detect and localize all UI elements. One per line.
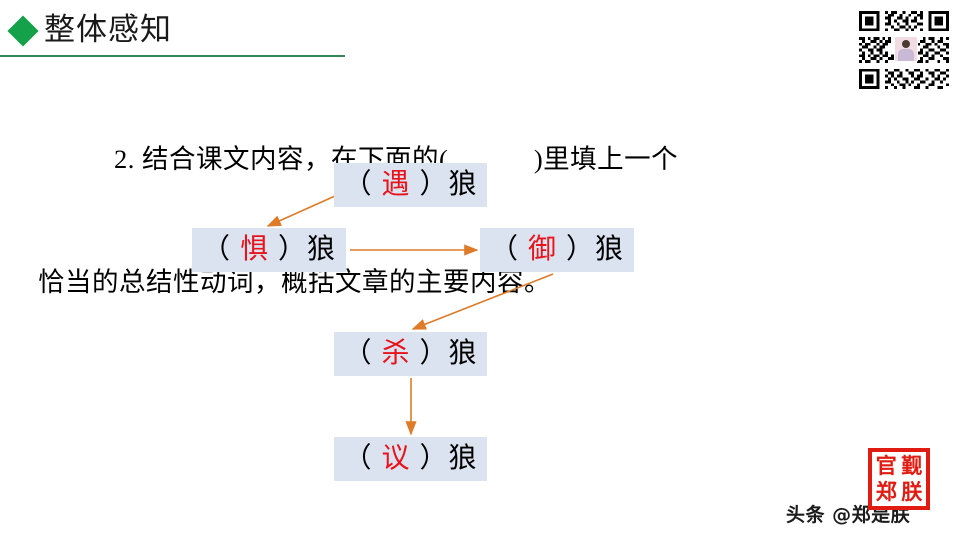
node-tail-word: 狼 [449, 445, 478, 473]
green-diamond-icon [7, 15, 38, 46]
node-open-paren: （ [343, 340, 372, 368]
node-close-paren: ） [420, 340, 449, 368]
seal-char-4: 朕 [900, 480, 925, 505]
diagram-node-yi-lang: （议）狼 [334, 437, 487, 481]
page-title: 整体感知 [44, 10, 172, 50]
seal-char-1: 官 [874, 454, 899, 479]
prompt-paragraph: 2. 结合课文内容，在下面的( )里填上一个 恰当的总结性动词，概括文章的主要内… [38, 57, 838, 344]
section-heading: 整体感知 [0, 8, 340, 54]
seal-char-3: 郑 [874, 480, 899, 505]
prompt-line-2: 恰当的总结性动词，概括文章的主要内容。 [38, 262, 838, 303]
prompt-line-1: 2. 结合课文内容，在下面的( )里填上一个 [38, 139, 838, 180]
qr-profile-avatar-icon [894, 36, 918, 62]
node-close-paren: ） [420, 445, 449, 473]
node-blank-word: 杀 [372, 340, 419, 368]
node-blank-word: 议 [372, 445, 419, 473]
node-open-paren: （ [343, 445, 372, 473]
red-seal-stamp: 官 觐 郑 朕 [868, 448, 930, 510]
seal-char-2: 觐 [900, 454, 925, 479]
node-tail-word: 狼 [449, 340, 478, 368]
